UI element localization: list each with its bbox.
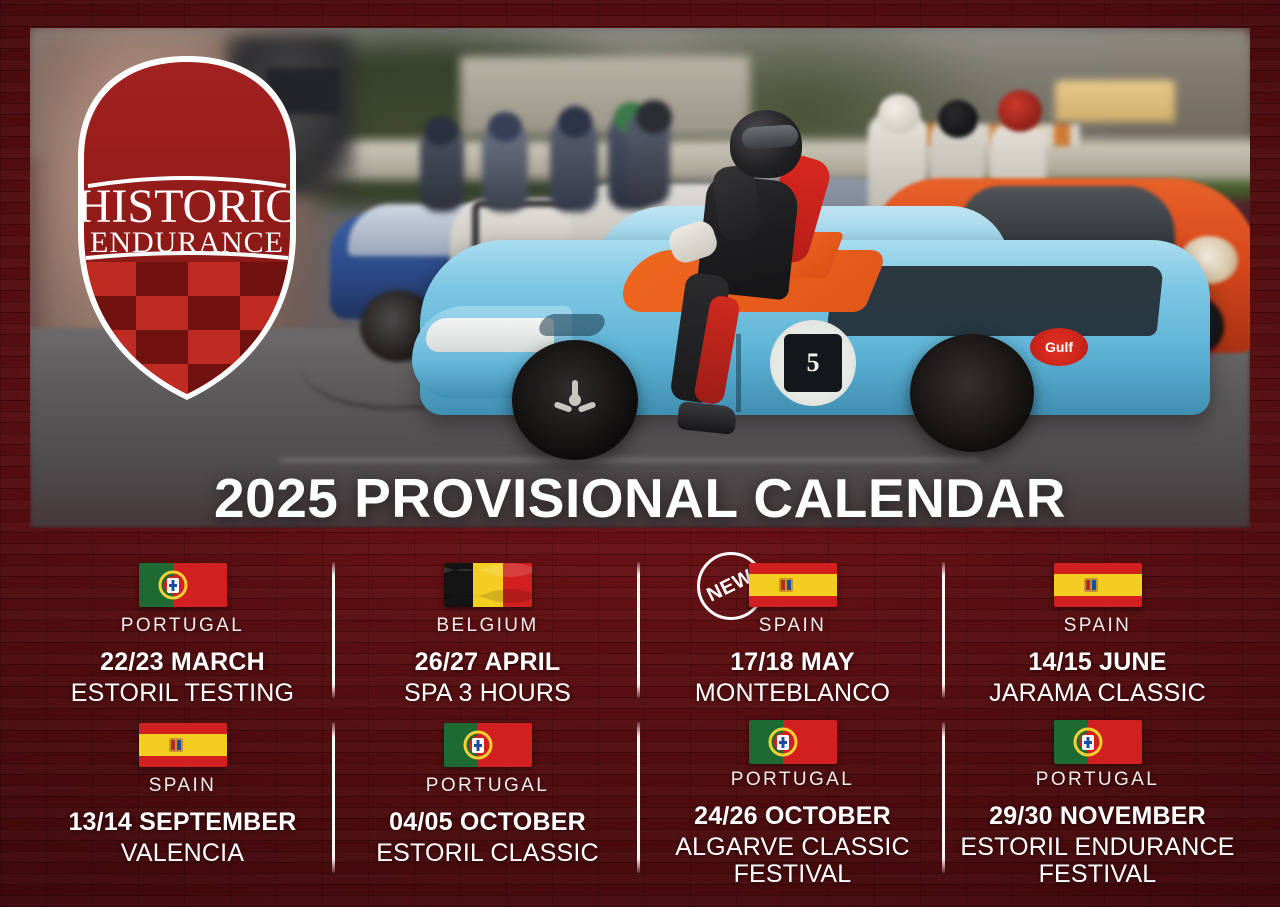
crew-helmet: [636, 100, 672, 134]
crew-helmet: [488, 112, 522, 142]
calendar-grid: PORTUGAL 22/23 MARCH ESTORIL TESTING BEL…: [30, 548, 1250, 893]
flag-belgium-icon: [444, 563, 532, 607]
flag-row: [749, 720, 837, 764]
flag-row: [444, 560, 532, 610]
event-date: 26/27 APRIL: [415, 649, 561, 677]
event-country: PORTUGAL: [731, 770, 854, 791]
event-date: 17/18 MAY: [730, 649, 855, 677]
event-date: 22/23 MARCH: [100, 649, 265, 677]
event-country: PORTUGAL: [121, 616, 244, 637]
event-country: PORTUGAL: [1036, 770, 1159, 791]
driver-boot: [677, 401, 738, 435]
event-venue: ESTORIL TESTING: [71, 680, 294, 707]
historic-endurance-logo: HISTORIC ENDURANCE: [62, 26, 312, 416]
event-venue: JARAMA CLASSIC: [989, 680, 1206, 707]
flag-row: [1054, 720, 1142, 764]
flag-row: [1054, 560, 1142, 610]
event-country: BELGIUM: [436, 616, 538, 637]
event-card[interactable]: NEW SPAIN 17/18 MAY: [640, 548, 945, 708]
crew-helmet: [558, 106, 592, 138]
event-date: 29/30 NOVEMBER: [989, 803, 1206, 831]
gt40-wheel-spinner: [550, 378, 600, 422]
event-venue: ESTORIL CLASSIC: [376, 840, 599, 867]
crew-helmet-dark: [938, 100, 978, 138]
flag-portugal-icon: [444, 723, 532, 767]
flag-portugal-icon: [1054, 720, 1142, 764]
gt40-rear-wheel: [910, 334, 1034, 452]
event-card[interactable]: BELGIUM 26/27 APRIL SPA 3 HOURS: [335, 548, 640, 708]
event-card[interactable]: PORTUGAL 04/05 OCTOBER ESTORIL CLASSIC: [335, 708, 640, 883]
flag-spain-icon: [749, 563, 837, 607]
event-country: PORTUGAL: [426, 776, 549, 797]
logo-text-endurance: ENDURANCE: [90, 226, 284, 259]
event-card[interactable]: PORTUGAL 29/30 NOVEMBER ESTORIL ENDURANC…: [945, 708, 1250, 883]
gt40-door-line: [736, 334, 741, 412]
gt40-vent: [536, 314, 608, 336]
flag-portugal-icon: [749, 720, 837, 764]
event-venue: ALGARVE CLASSIC FESTIVAL: [648, 834, 938, 888]
crew-helmet: [424, 116, 458, 146]
event-date: 13/14 SEPTEMBER: [68, 809, 296, 837]
event-card[interactable]: PORTUGAL 22/23 MARCH ESTORIL TESTING: [30, 548, 335, 708]
gt40-car-number: 5: [784, 334, 842, 392]
event-date: 04/05 OCTOBER: [389, 809, 586, 837]
gt40-number-roundel: 5: [770, 320, 856, 406]
flag-row: [139, 560, 227, 610]
flag-spain-icon: [1054, 563, 1142, 607]
event-venue: MONTEBLANCO: [695, 680, 890, 707]
event-card[interactable]: SPAIN 14/15 JUNE JARAMA CLASSIC: [945, 548, 1250, 708]
checker-pattern: [84, 262, 292, 398]
photo-tent: [1055, 80, 1175, 122]
page-title: 2025 PROVISIONAL CALENDAR: [0, 466, 1280, 530]
flag-portugal-icon: [139, 563, 227, 607]
event-country: SPAIN: [149, 776, 217, 797]
flag-row: [444, 720, 532, 770]
event-date: 24/26 OCTOBER: [694, 803, 891, 831]
photo-track-line: [280, 458, 980, 462]
gt40-white-panel: [426, 318, 554, 352]
crew-helmet-red: [998, 90, 1042, 132]
event-venue: ESTORIL ENDURANCE FESTIVAL: [953, 834, 1243, 888]
event-venue: SPA 3 HOURS: [404, 680, 571, 707]
driver-visor: [741, 124, 798, 150]
event-country: SPAIN: [759, 616, 827, 637]
flag-row: NEW: [749, 560, 837, 610]
event-card[interactable]: PORTUGAL 24/26 OCTOBER ALGARVE CLASSIC F…: [640, 708, 945, 883]
event-venue: VALENCIA: [121, 840, 244, 867]
event-card[interactable]: SPAIN 13/14 SEPTEMBER VALENCIA: [30, 708, 335, 883]
event-date: 14/15 JUNE: [1028, 649, 1166, 677]
event-country: SPAIN: [1064, 616, 1132, 637]
flag-spain-icon: [139, 723, 227, 767]
crew-helmet-white: [878, 94, 920, 134]
flag-row: [139, 720, 227, 770]
gulf-logo: Gulf: [1030, 328, 1088, 366]
calendar-poster: 5 Gulf: [0, 0, 1280, 907]
